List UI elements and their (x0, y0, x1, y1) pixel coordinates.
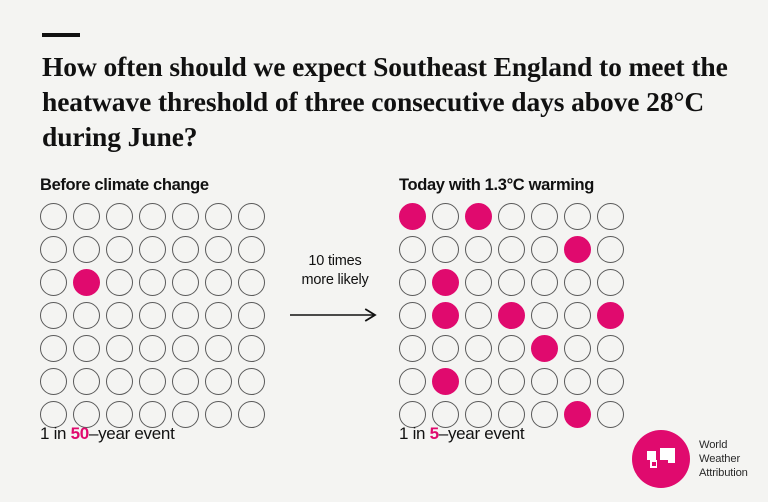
pictogram-dot-empty (139, 269, 166, 296)
pictogram-dot-empty (531, 401, 558, 428)
caption-today: 1 in 5–year event (399, 424, 524, 444)
pictogram-dot-empty (597, 368, 624, 395)
pictogram-dot-filled (531, 335, 558, 362)
pictogram-dot-empty (498, 236, 525, 263)
pictogram-dot-empty (106, 236, 133, 263)
pictogram-dot-empty (498, 368, 525, 395)
pictogram-dot-filled (432, 302, 459, 329)
pictogram-grid-today (399, 203, 630, 434)
pictogram-dot-empty (139, 368, 166, 395)
pictogram-dot-empty (139, 203, 166, 230)
pictogram-dot-empty (106, 335, 133, 362)
pictogram-dot-empty (172, 335, 199, 362)
pictogram-dot-empty (498, 335, 525, 362)
pictogram-dot-empty (399, 269, 426, 296)
pictogram-dot-empty (40, 368, 67, 395)
pictogram-dot-empty (238, 368, 265, 395)
pictogram-dot-empty (432, 335, 459, 362)
pictogram-dot-filled (399, 203, 426, 230)
pictogram-dot-empty (205, 368, 232, 395)
pictogram-dot-empty (73, 368, 100, 395)
pictogram-dot-empty (465, 368, 492, 395)
pictogram-dot-empty (238, 236, 265, 263)
pictogram-dot-empty (564, 335, 591, 362)
pictogram-dot-filled (564, 401, 591, 428)
pictogram-dot-empty (531, 302, 558, 329)
pictogram-dot-empty (238, 269, 265, 296)
pictogram-dot-empty (465, 236, 492, 263)
pictogram-dot-empty (597, 203, 624, 230)
pictogram-dot-empty (106, 203, 133, 230)
pictogram-dot-empty (106, 302, 133, 329)
page-title: How often should we expect Southeast Eng… (42, 50, 732, 155)
pictogram-dot-empty (597, 269, 624, 296)
wwa-logo-line-3: Attribution (699, 466, 748, 480)
caption-right-number: 5 (430, 424, 439, 443)
pictogram-dot-empty (205, 236, 232, 263)
pictogram-dot-filled (73, 269, 100, 296)
pictogram-dot-empty (40, 269, 67, 296)
pictogram-dot-empty (172, 368, 199, 395)
panel-today-warming: Today with 1.3°C warming (399, 176, 630, 434)
caption-left-suffix: –year event (89, 424, 175, 443)
pictogram-dot-empty (73, 203, 100, 230)
pictogram-dot-empty (40, 335, 67, 362)
panel-before-climate-change: Before climate change (40, 176, 271, 434)
pictogram-dot-filled (465, 203, 492, 230)
pictogram-dot-empty (465, 269, 492, 296)
pictogram-dot-empty (172, 401, 199, 428)
pictogram-dot-empty (399, 368, 426, 395)
panel-right-heading: Today with 1.3°C warming (399, 176, 630, 195)
pictogram-dot-filled (498, 302, 525, 329)
pictogram-dot-filled (432, 269, 459, 296)
pictogram-dot-empty (238, 335, 265, 362)
pictogram-dot-empty (40, 236, 67, 263)
pictogram-dot-empty (139, 335, 166, 362)
pictogram-dot-empty (73, 335, 100, 362)
pictogram-grid-before (40, 203, 271, 434)
pictogram-dot-empty (205, 203, 232, 230)
comparison-annotation: 10 times more likely (287, 252, 383, 322)
annotation-line-2: more likely (287, 271, 383, 290)
pictogram-dot-empty (432, 203, 459, 230)
pictogram-dot-empty (106, 368, 133, 395)
pictogram-dot-empty (597, 401, 624, 428)
pictogram-dot-empty (432, 236, 459, 263)
pictogram-dot-empty (205, 335, 232, 362)
pictogram-dot-empty (172, 203, 199, 230)
pictogram-dot-filled (564, 236, 591, 263)
pictogram-dot-empty (564, 269, 591, 296)
pictogram-dot-empty (40, 302, 67, 329)
wwa-logo[interactable]: World Weather Attribution (632, 430, 748, 488)
caption-right-prefix: 1 in (399, 424, 430, 443)
pictogram-dot-empty (205, 401, 232, 428)
panel-left-heading: Before climate change (40, 176, 271, 195)
pictogram-dot-empty (399, 236, 426, 263)
wwa-logo-text: World Weather Attribution (699, 438, 748, 481)
pictogram-dot-empty (106, 269, 133, 296)
annotation-line-1: 10 times (287, 252, 383, 271)
pictogram-dot-empty (597, 236, 624, 263)
pictogram-dot-empty (399, 302, 426, 329)
pictogram-dot-filled (432, 368, 459, 395)
pictogram-dot-empty (465, 302, 492, 329)
pictogram-dot-empty (172, 269, 199, 296)
pictogram-dot-empty (172, 302, 199, 329)
pictogram-dot-empty (498, 203, 525, 230)
pictogram-dot-empty (205, 302, 232, 329)
pictogram-dot-empty (564, 302, 591, 329)
pictogram-dot-filled (597, 302, 624, 329)
pictogram-dot-empty (238, 302, 265, 329)
pictogram-dot-empty (399, 335, 426, 362)
pictogram-dot-empty (531, 236, 558, 263)
arrow-right-icon (287, 308, 383, 322)
pictogram-dot-empty (531, 368, 558, 395)
pictogram-dot-empty (73, 302, 100, 329)
pictogram-dot-empty (139, 236, 166, 263)
pictogram-dot-empty (465, 335, 492, 362)
wwa-logo-line-2: Weather (699, 452, 748, 466)
pictogram-dot-empty (238, 401, 265, 428)
caption-left-prefix: 1 in (40, 424, 71, 443)
wwa-logo-mark (632, 430, 690, 488)
pictogram-dot-empty (564, 203, 591, 230)
pictogram-dot-empty (238, 203, 265, 230)
caption-left-number: 50 (71, 424, 89, 443)
pictogram-dot-empty (597, 335, 624, 362)
wwa-logo-line-1: World (699, 438, 748, 452)
pictogram-dot-empty (205, 269, 232, 296)
pictogram-dot-empty (172, 236, 199, 263)
top-rule (42, 33, 80, 37)
pictogram-dot-empty (531, 269, 558, 296)
pictogram-dot-empty (498, 269, 525, 296)
caption-right-suffix: –year event (439, 424, 525, 443)
pictogram-dot-empty (531, 203, 558, 230)
pictogram-dot-empty (40, 203, 67, 230)
pictogram-dot-empty (73, 236, 100, 263)
pictogram-dot-empty (139, 302, 166, 329)
pictogram-dot-empty (564, 368, 591, 395)
caption-before: 1 in 50–year event (40, 424, 175, 444)
